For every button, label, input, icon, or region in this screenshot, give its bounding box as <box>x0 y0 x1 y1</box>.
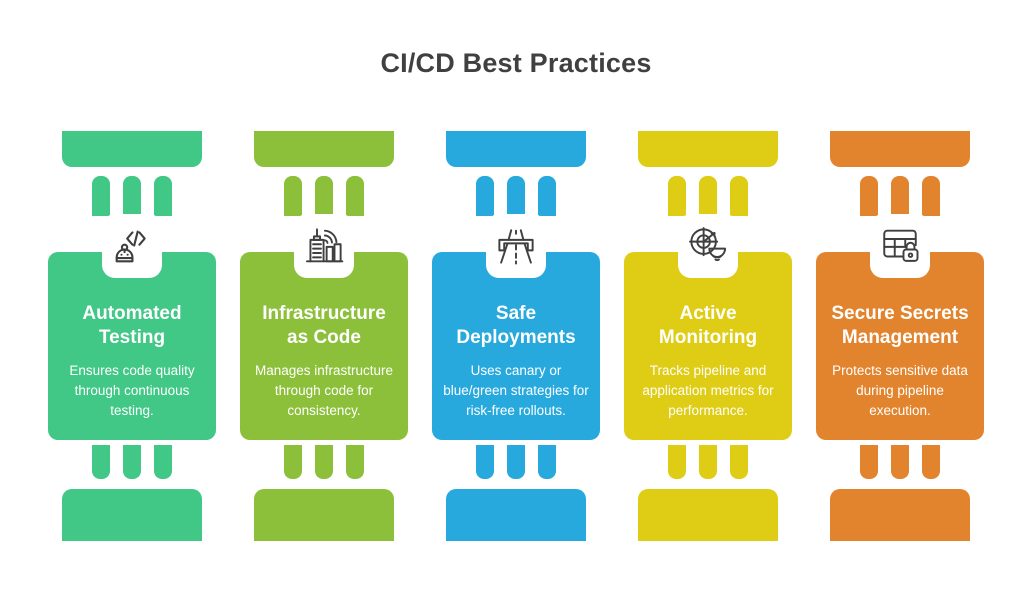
prong <box>922 445 940 479</box>
card-column-automated-testing: Automated TestingEnsures code quality th… <box>48 131 216 541</box>
prong <box>730 445 748 479</box>
card-bottom-cap <box>830 489 970 541</box>
card-active-monitoring[interactable]: Active MonitoringTracks pipeline and app… <box>624 252 792 440</box>
card-title: Active Monitoring <box>634 302 782 350</box>
prong <box>891 176 909 216</box>
prong <box>507 176 525 216</box>
card-automated-testing[interactable]: Automated TestingEnsures code quality th… <box>48 252 216 440</box>
prong <box>699 176 717 216</box>
card-description: Protects sensitive data during pipeline … <box>826 361 974 422</box>
icon-badge <box>870 214 930 278</box>
card-column-safe-deployments: Safe DeploymentsUses canary or blue/gree… <box>432 131 600 541</box>
card-top-prongs <box>92 176 172 216</box>
card-top-prongs <box>284 176 364 216</box>
prong <box>476 445 494 479</box>
icon-badge <box>294 214 354 278</box>
buildings-antenna-icon <box>303 225 345 267</box>
prong <box>860 445 878 479</box>
card-top-prongs <box>668 176 748 216</box>
card-bottom-prongs <box>284 445 364 479</box>
card-top-prongs <box>476 176 556 216</box>
card-bottom-prongs <box>92 445 172 479</box>
card-safe-deployments[interactable]: Safe DeploymentsUses canary or blue/gree… <box>432 252 600 440</box>
prong <box>154 445 172 479</box>
prong <box>860 176 878 216</box>
card-description: Ensures code quality through continuous … <box>58 361 206 422</box>
prong <box>922 176 940 216</box>
prong <box>668 445 686 479</box>
card-bottom-cap <box>254 489 394 541</box>
prong <box>154 176 172 216</box>
card-bottom-prongs <box>476 445 556 479</box>
card-secure-secrets-management[interactable]: Secure Secrets ManagementProtects sensit… <box>816 252 984 440</box>
card-top-cap <box>254 131 394 167</box>
card-description: Uses canary or blue/green strategies for… <box>442 361 590 422</box>
icon-badge <box>678 214 738 278</box>
prong <box>699 445 717 479</box>
card-description: Tracks pipeline and application metrics … <box>634 361 782 422</box>
card-description: Manages infrastructure through code for … <box>250 361 398 422</box>
card-top-cap <box>830 131 970 167</box>
card-bottom-prongs <box>668 445 748 479</box>
prong <box>284 176 302 216</box>
card-column-secure-secrets-management: Secure Secrets ManagementProtects sensit… <box>816 131 984 541</box>
card-infrastructure-as-code[interactable]: Infrastructure as CodeManages infrastruc… <box>240 252 408 440</box>
prong <box>507 445 525 479</box>
prong <box>346 445 364 479</box>
card-title: Safe Deployments <box>442 302 590 350</box>
prong <box>92 445 110 479</box>
prong <box>476 176 494 216</box>
prong <box>668 176 686 216</box>
card-bottom-cap <box>638 489 778 541</box>
prong <box>123 176 141 216</box>
prong <box>346 176 364 216</box>
prong <box>315 445 333 479</box>
card-column-active-monitoring: Active MonitoringTracks pipeline and app… <box>624 131 792 541</box>
prong <box>538 445 556 479</box>
card-column-infrastructure-as-code: Infrastructure as CodeManages infrastruc… <box>240 131 408 541</box>
icon-badge <box>486 214 546 278</box>
highway-road-icon <box>495 225 537 267</box>
icon-badge <box>102 214 162 278</box>
cards-row: Automated TestingEnsures code quality th… <box>0 131 1032 541</box>
robot-code-icon <box>111 225 153 267</box>
prong <box>123 445 141 479</box>
card-top-cap <box>446 131 586 167</box>
prong <box>315 176 333 216</box>
prong <box>284 445 302 479</box>
table-lock-icon <box>879 225 921 267</box>
prong <box>538 176 556 216</box>
prong <box>730 176 748 216</box>
card-title: Automated Testing <box>58 302 206 350</box>
radar-dish-icon <box>687 225 729 267</box>
card-top-cap <box>638 131 778 167</box>
prong <box>92 176 110 216</box>
card-bottom-cap <box>446 489 586 541</box>
prong <box>891 445 909 479</box>
card-top-prongs <box>860 176 940 216</box>
card-top-cap <box>62 131 202 167</box>
card-title: Infrastructure as Code <box>250 302 398 350</box>
card-bottom-cap <box>62 489 202 541</box>
card-bottom-prongs <box>860 445 940 479</box>
page-title: CI/CD Best Practices <box>0 48 1032 79</box>
card-title: Secure Secrets Management <box>826 302 974 350</box>
